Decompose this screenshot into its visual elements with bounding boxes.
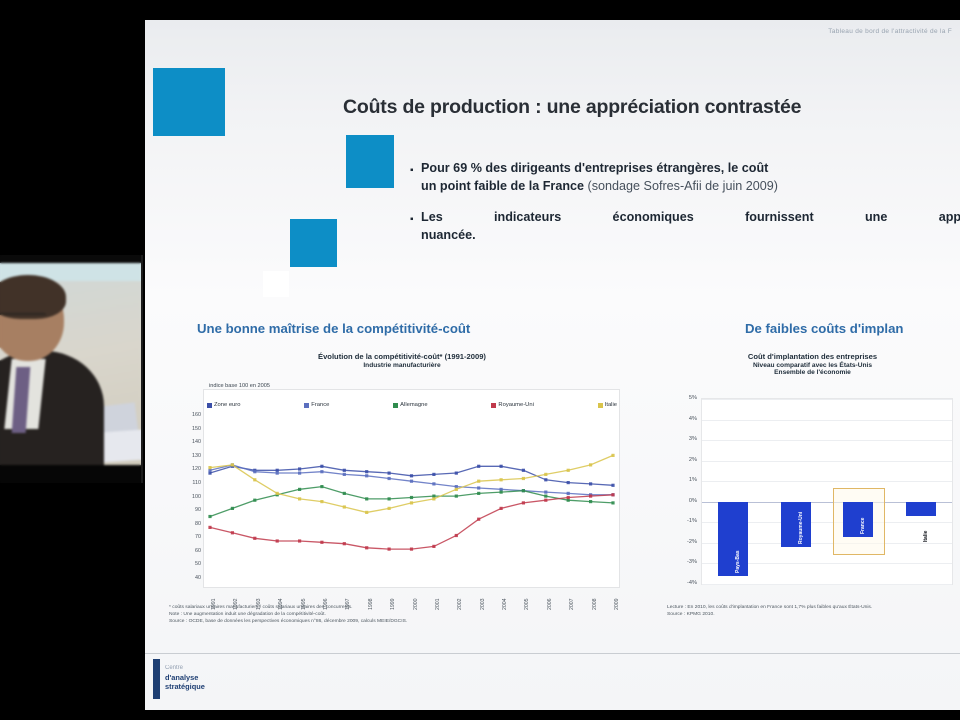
legend-entry: Italie xyxy=(598,402,617,408)
bar-category-label: Italie xyxy=(923,531,929,542)
footer-divider xyxy=(145,653,960,654)
section-heading-right: De faibles coûts d'implan xyxy=(745,321,904,336)
bar xyxy=(718,502,748,576)
section-heading-left: Une bonne maîtrise de la compétitivité-c… xyxy=(197,321,470,336)
footnote-line: Source : KPMG 2010. xyxy=(667,611,960,618)
legend-label: Italie xyxy=(605,402,617,408)
legend-marker-icon xyxy=(207,403,212,408)
bar-chart-y-tick: 2% xyxy=(689,457,697,463)
bullet-list: ▪Pour 69 % des dirigeants d'entreprises … xyxy=(421,160,960,258)
line-chart-y-tick: 40 xyxy=(195,575,201,581)
bar-chart-title: Coût d'implantation des entreprises xyxy=(665,352,960,362)
footnote-line: * coûts salariaux unitaires manufacturie… xyxy=(169,604,629,611)
legend-marker-icon xyxy=(304,403,309,408)
line-chart-plot-area xyxy=(203,389,620,588)
line-chart-footnotes: * coûts salariaux unitaires manufacturie… xyxy=(169,604,629,626)
bar-chart-y-tick: -3% xyxy=(687,559,697,565)
organisation-logo: Centre d'analyse stratégique xyxy=(151,657,301,702)
screen-share-stage: Tableau de bord de l'attractivité de la … xyxy=(0,0,960,720)
bullet-1-line-2: un point faible de la France xyxy=(421,179,584,193)
line-chart-legend: Zone euroFranceAllemagneRoyaume-UniItali… xyxy=(207,402,617,408)
decorative-square-white xyxy=(263,271,289,297)
line-chart-y-tick: 80 xyxy=(195,521,201,527)
bar-category-label: Pays-Bas xyxy=(735,550,741,573)
bullet-1-line-1: Pour 69 % des dirigeants d'entreprises é… xyxy=(421,161,768,175)
webcam-softness-overlay xyxy=(0,255,141,483)
legend-entry: Royaume-Uni xyxy=(491,402,533,408)
line-chart-subtitle: Industrie manufacturière xyxy=(167,362,637,369)
bar-chart-subtitle-1: Niveau comparatif avec les États-Unis xyxy=(665,362,960,369)
bar-chart-gridline xyxy=(702,461,952,462)
bullet-item-1: ▪Pour 69 % des dirigeants d'entreprises … xyxy=(421,160,960,195)
presentation-slide: Tableau de bord de l'attractivité de la … xyxy=(145,20,960,710)
decorative-square-large xyxy=(153,68,225,136)
bar-chart-gridline xyxy=(702,584,952,585)
bar-chart-gridline xyxy=(702,420,952,421)
bar-chart-y-tick: 1% xyxy=(689,477,697,483)
legend-marker-icon xyxy=(598,403,603,408)
line-chart-y-tick: 110 xyxy=(192,480,201,486)
bar-chart-panel: Coût d'implantation des entreprises Nive… xyxy=(665,352,960,657)
bar-category-label: Royaume-Uni xyxy=(798,512,804,544)
bar-chart-y-tick: 5% xyxy=(689,395,697,401)
decorative-square-small xyxy=(290,219,337,267)
bullet-2-line-2: nuancée. xyxy=(421,228,476,242)
footnote-line: Source : OCDE, base de données les persp… xyxy=(169,618,629,625)
bar xyxy=(906,502,936,516)
logo-line-1: Centre xyxy=(165,665,183,671)
bar-chart-gridline xyxy=(702,399,952,400)
line-chart-y-tick: 160 xyxy=(192,412,201,418)
logo-line-3: stratégique xyxy=(165,682,205,691)
line-chart-y-axis: 160150140130120110100908070605040 xyxy=(173,389,203,586)
bar-category-label: France xyxy=(860,517,866,533)
logo-line-2: d'analyse xyxy=(165,673,198,682)
bar-chart-gridline xyxy=(702,440,952,441)
decorative-square-medium xyxy=(346,135,394,188)
line-chart-title: Évolution de la compétitivité-coût* (199… xyxy=(167,352,637,362)
footnote-line: Note : Une augmentation induit une dégra… xyxy=(169,611,629,618)
footnote-line: Lecture : En 2010, les coûts d'implantat… xyxy=(667,604,960,611)
line-chart-svg xyxy=(204,390,619,587)
legend-entry: Allemagne xyxy=(393,402,427,408)
bar-chart-y-tick: -2% xyxy=(687,539,697,545)
bar-chart-y-tick: 3% xyxy=(689,436,697,442)
bullet-2-line-1: Les indicateurs économiques fournissent … xyxy=(421,209,960,227)
line-chart-y-tick: 50 xyxy=(195,561,201,567)
bullet-marker-icon: ▪ xyxy=(410,162,414,180)
bullet-marker-icon-2: ▪ xyxy=(410,211,414,229)
line-chart-y-tick: 120 xyxy=(192,466,201,472)
legend-label: Allemagne xyxy=(400,402,427,408)
line-chart-y-tick: 90 xyxy=(195,507,201,513)
bullet-1-source: (sondage Sofres-Afii de juin 2009) xyxy=(584,179,778,193)
line-chart-y-tick: 60 xyxy=(195,548,201,554)
bar-chart-y-axis: 5%4%3%2%1%0%-1%-2%-3%-4% xyxy=(669,398,699,583)
bar-chart-plot-area: Pays-BasRoyaume-UniFranceItalie xyxy=(701,398,953,585)
slide-title: Coûts de production : une appréciation c… xyxy=(343,96,943,119)
legend-entry: Zone euro xyxy=(207,402,240,408)
slide-header-note: Tableau de bord de l'attractivité de la … xyxy=(828,28,952,35)
line-chart-y-tick: 150 xyxy=(192,426,201,432)
bullet-item-2: ▪ Les indicateurs économiques fournissen… xyxy=(421,209,960,244)
bar-chart-subtitle-2: Ensemble de l'économie xyxy=(665,369,960,376)
bar xyxy=(843,502,873,537)
bar-chart-y-tick: -1% xyxy=(687,518,697,524)
legend-label: France xyxy=(311,402,329,408)
speaker-webcam-inset[interactable] xyxy=(0,255,143,483)
legend-label: Royaume-Uni xyxy=(498,402,533,408)
bar-chart-y-tick: 4% xyxy=(689,416,697,422)
bar-chart-y-tick: -4% xyxy=(687,580,697,586)
legend-entry: France xyxy=(304,402,329,408)
legend-label: Zone euro xyxy=(214,402,240,408)
line-chart-y-tick: 140 xyxy=(192,439,201,445)
line-chart-y-tick: 70 xyxy=(195,534,201,540)
line-chart-y-tick: 130 xyxy=(192,453,201,459)
logo-bar-icon xyxy=(153,659,160,699)
legend-marker-icon xyxy=(491,403,496,408)
legend-marker-icon xyxy=(393,403,398,408)
bar-chart-footnotes: Lecture : En 2010, les coûts d'implantat… xyxy=(667,604,960,618)
bar-chart-gridline xyxy=(702,481,952,482)
line-chart-panel: Évolution de la compétitivité-coût* (199… xyxy=(167,352,637,657)
bar-chart-y-tick: 0% xyxy=(689,498,697,504)
line-chart-y-tick: 100 xyxy=(192,494,201,500)
bar xyxy=(781,502,811,547)
